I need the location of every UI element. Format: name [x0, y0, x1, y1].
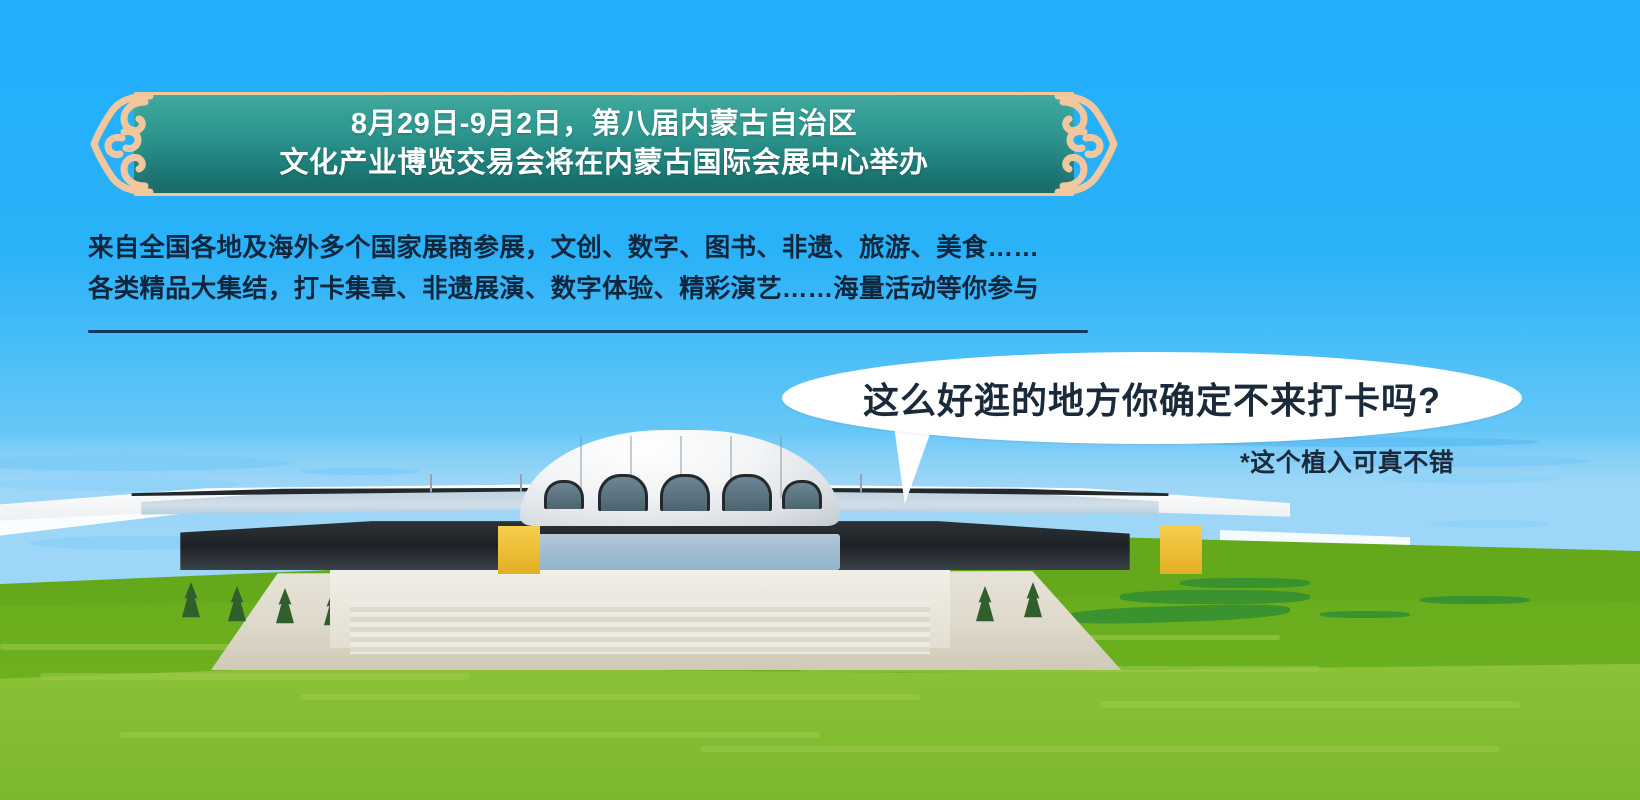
- banner-title-line-1: 8月29日-9月2日，第八届内蒙古自治区: [351, 105, 857, 144]
- promo-poster: 8月29日-9月2日，第八届内蒙古自治区 文化产业博览交易会将在内蒙古国际会展中…: [0, 0, 1640, 800]
- grass-texture-streak: [1100, 701, 1520, 708]
- title-banner: 8月29日-9月2日，第八届内蒙古自治区 文化产业博览交易会将在内蒙古国际会展中…: [88, 88, 1120, 200]
- building-gold-panel-right: [1160, 526, 1202, 574]
- building-staircase: [350, 602, 930, 654]
- body-copy-line-2: 各类精品大集结，打卡集章、非遗展演、数字体验、精彩演艺……海量活动等你参与: [88, 269, 1098, 310]
- cloud-streak: [1430, 520, 1550, 528]
- dome-window: [660, 474, 710, 511]
- grass-texture-streak: [120, 732, 820, 738]
- grass-texture-streak: [40, 673, 470, 680]
- dome-window: [722, 474, 772, 511]
- speech-callout: 这么好逛的地方你确定不来打卡吗?: [782, 352, 1522, 502]
- grass-texture-streak: [300, 694, 920, 700]
- conifer-tree: [182, 582, 200, 626]
- grass-texture-streak: [700, 746, 1500, 752]
- flag-pole: [520, 474, 522, 492]
- copy-divider-rule: [88, 330, 1088, 333]
- banner-title-line-2: 文化产业博览交易会将在内蒙古国际会展中心举办: [279, 144, 928, 183]
- building-lobby-glass-highlight: [520, 534, 840, 570]
- building-gold-panel-left: [498, 526, 540, 574]
- footnote-text: *这个植入可真不错: [1240, 443, 1454, 479]
- flag-pole: [430, 474, 432, 492]
- grass-shadow-patch: [1420, 596, 1530, 604]
- speech-bubble-text: 这么好逛的地方你确定不来打卡吗?: [782, 352, 1522, 444]
- grass-shadow-patch: [1320, 611, 1410, 618]
- dome-window: [544, 480, 584, 509]
- body-copy: 来自全国各地及海外多个国家展商参展，文创、数字、图书、非遗、旅游、美食…… 各类…: [88, 228, 1098, 311]
- body-copy-line-1: 来自全国各地及海外多个国家展商参展，文创、数字、图书、非遗、旅游、美食……: [88, 228, 1098, 269]
- dome-window: [598, 474, 648, 511]
- banner-text-block: 8月29日-9月2日，第八届内蒙古自治区 文化产业博览交易会将在内蒙古国际会展中…: [134, 92, 1074, 196]
